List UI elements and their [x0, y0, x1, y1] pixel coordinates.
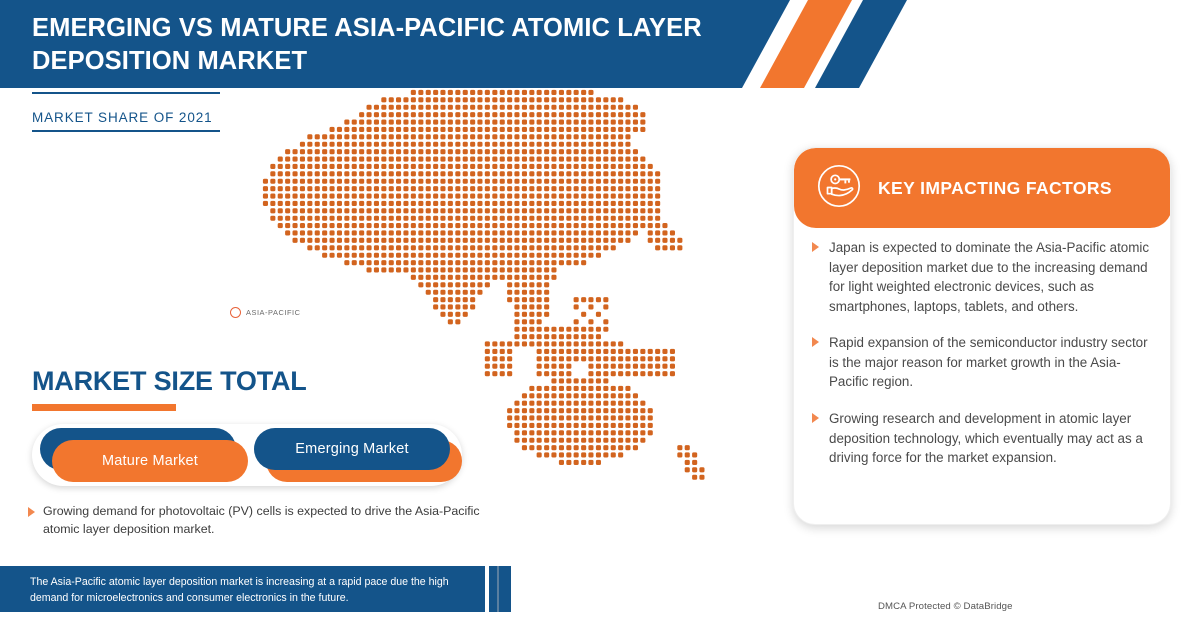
footer-banner: The Asia-Pacific atomic layer deposition…	[0, 566, 485, 612]
list-item: Rapid expansion of the semiconductor ind…	[812, 333, 1150, 392]
market-share-rule-bottom	[32, 130, 220, 132]
key-panel-header: KEY IMPACTING FACTORS	[794, 148, 1171, 228]
market-share-label: MARKET SHARE OF 2021	[32, 110, 220, 130]
list-item: Growing research and development in atom…	[812, 409, 1150, 468]
key-panel-title: KEY IMPACTING FACTORS	[878, 178, 1112, 199]
market-size-bullet-text: Growing demand for photovoltaic (PV) cel…	[43, 503, 506, 538]
market-size-underline	[32, 404, 176, 411]
key-panel-list: Japan is expected to dominate the Asia-P…	[794, 238, 1171, 485]
hand-holding-key-icon	[816, 163, 862, 214]
footer-accent-tab	[489, 566, 511, 612]
pill-mature-label[interactable]: Mature Market	[52, 440, 248, 482]
list-item: Japan is expected to dominate the Asia-P…	[812, 238, 1150, 316]
infographic-root: EMERGING VS MATURE ASIA-PACIFIC ATOMIC L…	[0, 0, 1200, 618]
market-share-block: MARKET SHARE OF 2021	[32, 92, 220, 132]
key-item-text: Growing research and development in atom…	[829, 409, 1150, 468]
header: EMERGING VS MATURE ASIA-PACIFIC ATOMIC L…	[0, 0, 1200, 88]
market-size-block: MARKET SIZE TOTAL	[32, 366, 307, 411]
market-size-pill-card: Mature Market Emerging Market	[32, 424, 462, 486]
market-share-rule-top	[32, 92, 220, 94]
footer-accent-line	[497, 566, 499, 612]
map-marker-dot-icon	[230, 307, 241, 318]
dmca-credit: DMCA Protected © DataBridge	[878, 601, 1013, 612]
page-title: EMERGING VS MATURE ASIA-PACIFIC ATOMIC L…	[32, 12, 732, 78]
map-marker-label: ASIA-PACIFIC	[246, 308, 301, 317]
key-item-text: Japan is expected to dominate the Asia-P…	[829, 238, 1150, 316]
pill-emerging-market[interactable]: Emerging Market	[260, 434, 456, 476]
bullet-triangle-icon	[812, 413, 819, 423]
pill-mature-market[interactable]: Mature Market	[46, 434, 242, 476]
footer-text: The Asia-Pacific atomic layer deposition…	[30, 575, 462, 607]
market-size-title: MARKET SIZE TOTAL	[32, 366, 307, 397]
key-impacting-factors-panel: KEY IMPACTING FACTORS Japan is expected …	[793, 147, 1171, 525]
market-size-bullet: Growing demand for photovoltaic (PV) cel…	[28, 503, 506, 538]
pill-emerging-label[interactable]: Emerging Market	[254, 428, 450, 470]
key-item-text: Rapid expansion of the semiconductor ind…	[829, 333, 1150, 392]
map-marker: ASIA-PACIFIC	[230, 307, 301, 318]
bullet-triangle-icon	[812, 337, 819, 347]
bullet-triangle-icon	[28, 507, 35, 517]
bullet-triangle-icon	[812, 242, 819, 252]
